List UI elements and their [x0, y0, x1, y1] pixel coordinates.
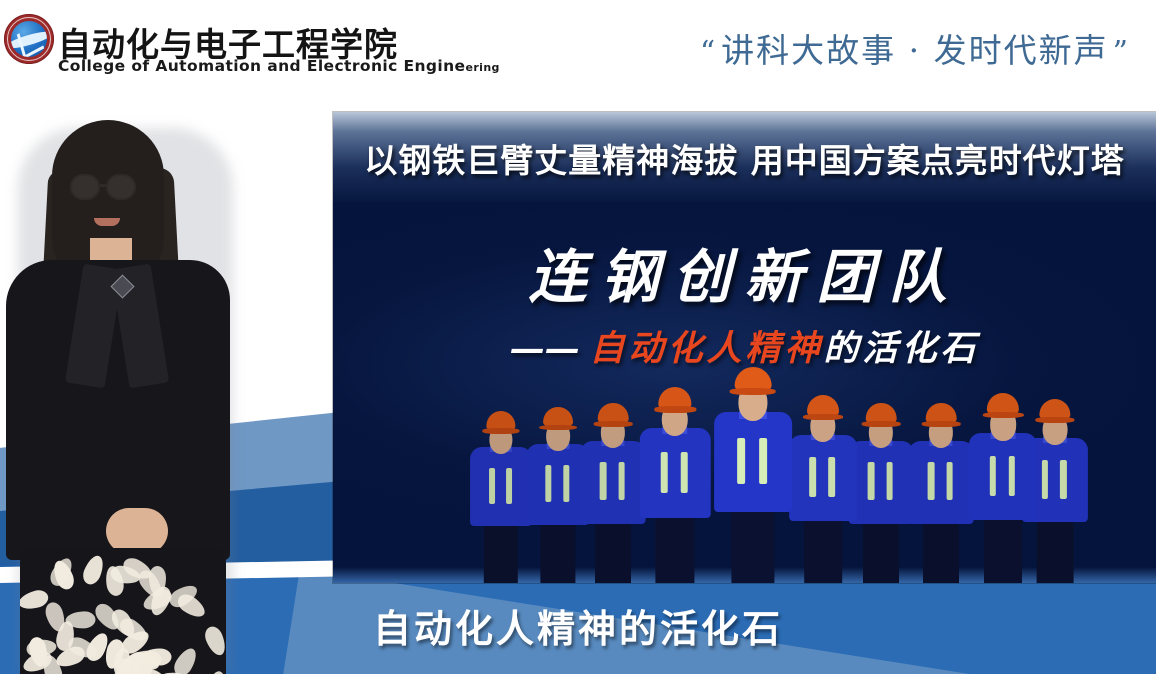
team-member-legs [540, 518, 575, 583]
slide-brush-headline: 连钢创新团队 [333, 230, 1156, 314]
college-name-en: College of Automation and Electronic Eng… [58, 57, 500, 75]
team-member-legs [863, 516, 899, 583]
slogan-open-quote: “ [696, 35, 721, 70]
skirt-floral-motif [80, 553, 107, 587]
team-member-legs [1037, 515, 1074, 583]
presenter-mouth [94, 218, 120, 226]
presenter-glasses-bridge [100, 184, 106, 187]
bottom-caption: 自动化人精神的活化石 [0, 598, 1156, 653]
subtitle-red-text: 自动化人精神 [589, 328, 823, 369]
presentation-slide: 以钢铁巨臂丈量精神海拔 用中国方案点亮时代灯塔 连钢创新团队 ——自动化人精神的… [333, 112, 1156, 583]
emblem-core [11, 21, 47, 57]
team-member-legs [804, 513, 842, 583]
team-member-uniform [909, 441, 974, 524]
team-member [785, 395, 860, 583]
slogan-close-quote: ” [1109, 35, 1134, 70]
team-member-legs [655, 510, 694, 583]
college-emblem-icon [4, 14, 54, 64]
team-member [636, 387, 714, 583]
team-member-helmet-icon [543, 407, 573, 428]
team-member-helmet-icon [1039, 399, 1070, 421]
team-member-uniform [714, 412, 792, 511]
team-member-helmet-icon [866, 403, 897, 425]
team-member-helmet-icon [598, 403, 629, 425]
page-header: 自动化与电子工程学院 College of Automation and Ele… [0, 0, 1156, 100]
team-member-uniform [789, 435, 857, 521]
slide-subtitle: ——自动化人精神的活化石 [333, 320, 1156, 371]
team-member-helmet-icon [807, 395, 839, 418]
team-member-legs [984, 513, 1022, 583]
team-member-helmet-icon [486, 411, 515, 432]
slide-title: 以钢铁巨臂丈量精神海拔 用中国方案点亮时代灯塔 [333, 134, 1156, 182]
team-member-helmet-icon [987, 393, 1019, 416]
team-photo [463, 370, 1073, 583]
presenter-glasses-left-lens [70, 174, 100, 200]
screen-stage: 自动化与电子工程学院 College of Automation and Ele… [0, 0, 1156, 674]
team-member-legs [923, 516, 959, 583]
team-member-uniform [640, 428, 711, 518]
subtitle-dash: —— [509, 328, 589, 369]
skirt-floral-motif [205, 670, 226, 674]
presenter-figure [0, 118, 250, 674]
subtitle-white-text: 的活化石 [824, 328, 980, 369]
college-name-en-main: College of Automation and Electronic Eng… [58, 57, 465, 75]
team-member-legs [484, 519, 518, 583]
team-member-helmet-icon [735, 367, 772, 393]
team-member-helmet-icon [658, 387, 691, 411]
presenter-glasses-right-lens [106, 174, 136, 200]
team-member [965, 393, 1041, 583]
college-name-en-suffix: ering [465, 61, 499, 74]
team-member-uniform [969, 433, 1037, 520]
team-member-legs [595, 516, 631, 583]
slogan-text: 讲科大故事 · 发时代新声 [721, 31, 1108, 70]
team-member [710, 367, 796, 583]
header-slogan: “讲科大故事 · 发时代新声” [696, 24, 1134, 72]
team-member-helmet-icon [926, 403, 957, 425]
team-member-legs [731, 503, 774, 583]
